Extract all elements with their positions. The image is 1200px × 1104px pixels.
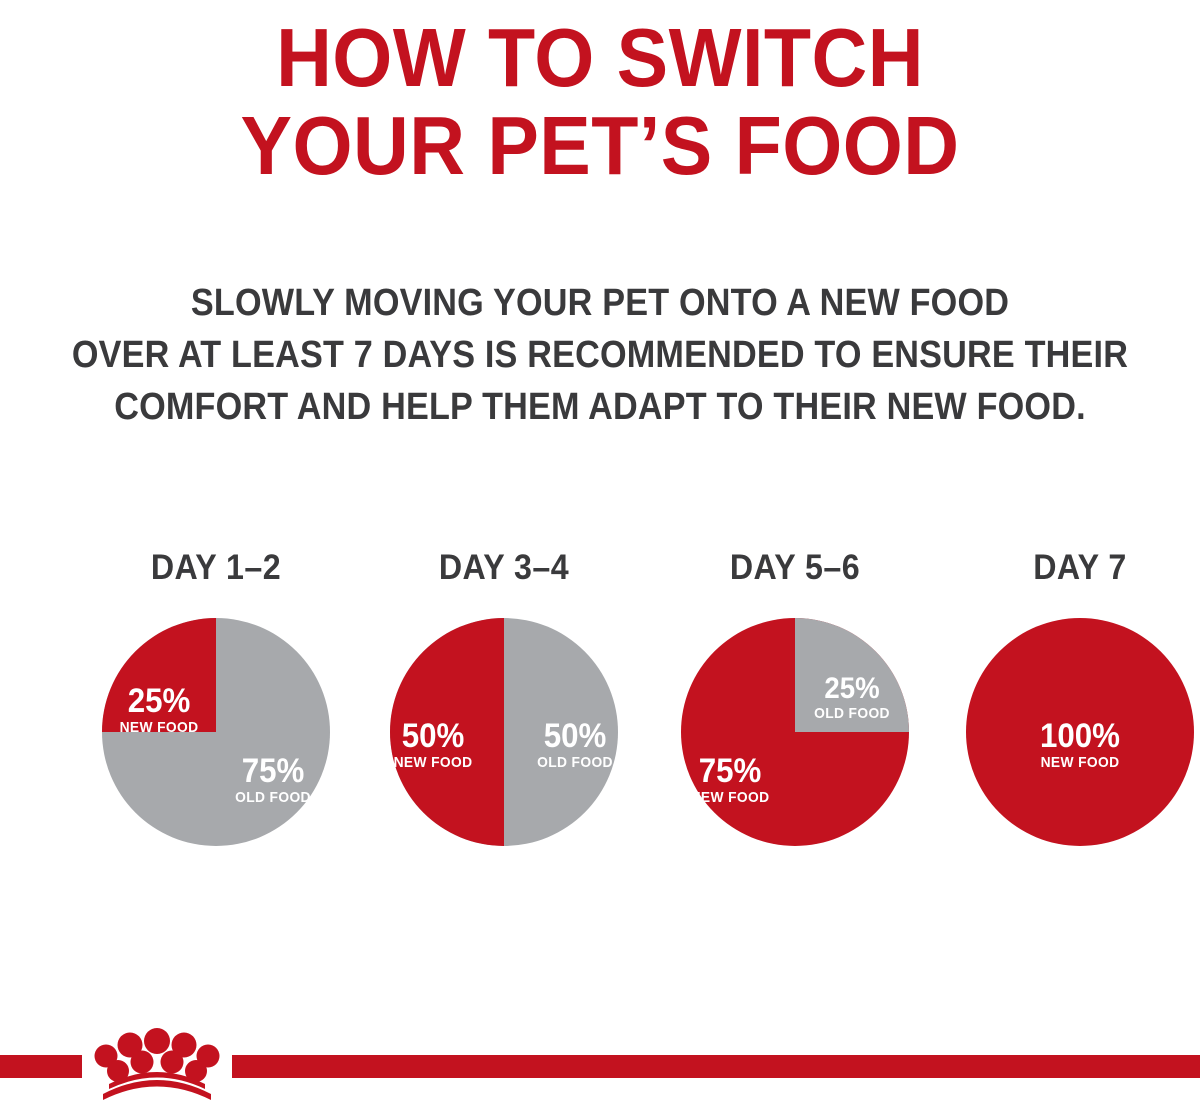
pie-graphic-1 <box>102 618 330 846</box>
subtitle-line-2: OVER AT LEAST 7 DAYS IS RECOMMENDED TO E… <box>60 329 1140 381</box>
pie-graphic-2 <box>390 618 618 846</box>
day-label-4: DAY 7 <box>947 548 1200 588</box>
pie-chart-day-7: DAY 7 100% NEW FOOD <box>935 548 1200 878</box>
footer-bar-left <box>0 1055 82 1078</box>
pie-chart-day-3-4: DAY 3–4 50% NEW FOOD 50% OLD FOOD <box>359 548 649 878</box>
royal-canin-crown-logo-icon <box>82 1018 232 1104</box>
pie-graphic-3 <box>681 618 909 846</box>
day-label-3: DAY 5–6 <box>662 548 929 588</box>
pie-chart-row: DAY 1–2 25% NEW FOOD 75% OLD FOOD DAY 3–… <box>0 548 1200 878</box>
title-line-1: HOW TO SWITCH <box>42 14 1158 102</box>
brand-footer <box>0 1018 1200 1104</box>
day-label-2: DAY 3–4 <box>371 548 638 588</box>
footer-bar-right <box>232 1055 1200 1078</box>
subtitle-line-1: SLOWLY MOVING YOUR PET ONTO A NEW FOOD <box>60 277 1140 329</box>
day-label-1: DAY 1–2 <box>83 548 350 588</box>
subtitle-line-3: COMFORT AND HELP THEM ADAPT TO THEIR NEW… <box>60 381 1140 433</box>
pie-chart-day-5-6: DAY 5–6 25% OLD FOOD 75% NEW FOOD <box>650 548 940 878</box>
pie-graphic-4 <box>966 618 1194 846</box>
title-line-2: YOUR PET’S FOOD <box>42 102 1158 190</box>
page-title: HOW TO SWITCH YOUR PET’S FOOD <box>0 14 1200 190</box>
subtitle: SLOWLY MOVING YOUR PET ONTO A NEW FOOD O… <box>0 277 1200 433</box>
pie-chart-day-1-2: DAY 1–2 25% NEW FOOD 75% OLD FOOD <box>71 548 361 878</box>
